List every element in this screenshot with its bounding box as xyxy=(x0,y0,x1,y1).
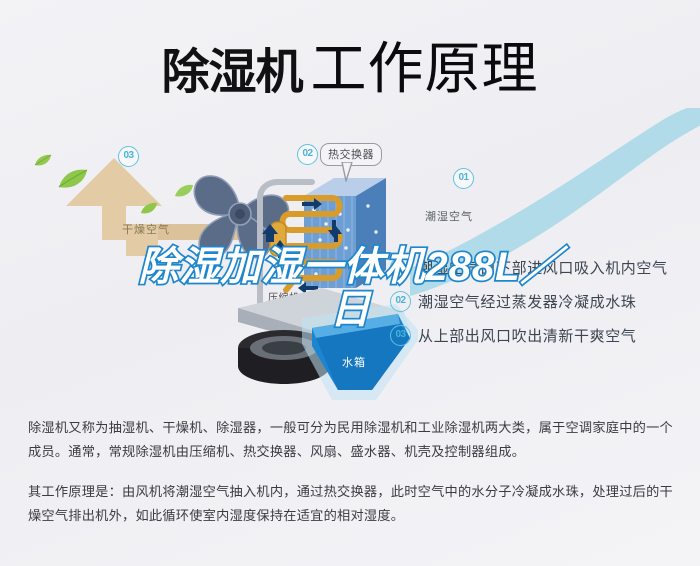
step-badge-01: 01 xyxy=(390,257,411,278)
page-title-secondary: 工作原理 xyxy=(311,37,539,100)
leaf-icon xyxy=(58,168,88,195)
step-item-02: 02 潮湿空气经过蒸发器冷凝成水珠 xyxy=(390,284,690,318)
leaf-icon xyxy=(34,154,52,173)
step-badge-02: 02 xyxy=(390,291,411,312)
step-item-03: 03 从上部出风口吹出清新干爽空气 xyxy=(390,318,690,352)
leaf-icon xyxy=(140,202,158,221)
step-item-01: 01 潮湿空气由下部进风口吸入机内空气 xyxy=(390,250,690,284)
step-list: 01 潮湿空气由下部进风口吸入机内空气 02 潮湿空气经过蒸发器冷凝成水珠 03… xyxy=(390,250,690,352)
callout-tail-icon xyxy=(341,162,353,182)
paragraph-2: 其工作原理是：由风机将潮湿空气抽入机内，通过热交换器，此时空气中的水分子冷凝成水… xyxy=(28,480,676,527)
page-root: 除湿机工作原理 干燥空气 xyxy=(0,0,700,566)
diagram-badge-02: 02 xyxy=(297,144,318,165)
page-title: 除湿机工作原理 xyxy=(0,24,700,105)
step-badge-03: 03 xyxy=(390,325,411,346)
humid-air-label: 潮湿空气 xyxy=(425,208,473,224)
dry-air-label: 干燥空气 xyxy=(122,221,170,237)
paragraph-1: 除湿机又称为抽湿机、干燥机、除湿器，一般可分为民用除湿机和工业除湿机两大类，属于… xyxy=(28,416,676,463)
body-copy: 除湿机又称为抽湿机、干燥机、除湿器，一般可分为民用除湿机和工业除湿机两大类，属于… xyxy=(28,416,676,527)
diagram-badge-01: 01 xyxy=(453,168,474,189)
step-text-03: 从上部出风口吹出清新干爽空气 xyxy=(418,325,636,346)
page-title-primary: 除湿机 xyxy=(161,46,302,99)
diagram-badge-03: 03 xyxy=(118,146,139,167)
water-tank-label: 水箱 xyxy=(342,354,366,370)
step-text-02: 潮湿空气经过蒸发器冷凝成水珠 xyxy=(418,291,636,312)
step-text-01: 潮湿空气由下部进风口吸入机内空气 xyxy=(418,257,668,278)
